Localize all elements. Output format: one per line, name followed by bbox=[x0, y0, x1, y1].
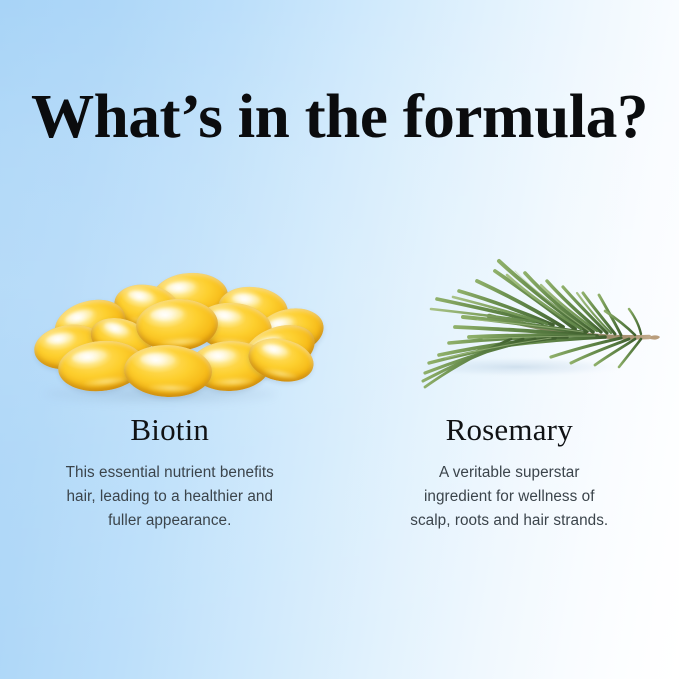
rosemary-sprig-icon bbox=[349, 239, 669, 399]
ingredient-columns: Biotin This essential nutrient benefits … bbox=[0, 235, 679, 548]
ingredient-name-biotin: Biotin bbox=[130, 414, 209, 445]
page-title: What’s in the formula? bbox=[0, 86, 679, 148]
ingredient-name-rosemary: Rosemary bbox=[446, 414, 573, 445]
ingredient-description-biotin: This essential nutrient benefits hair, l… bbox=[64, 461, 276, 533]
ingredients-poster: What’s in the formula? bbox=[0, 0, 679, 679]
rosemary-image bbox=[349, 235, 669, 400]
capsule-pile-icon bbox=[18, 275, 318, 395]
ingredient-card-rosemary: Rosemary A veritable superstar ingredien… bbox=[340, 235, 679, 548]
biotin-image bbox=[10, 235, 330, 400]
ingredient-card-biotin: Biotin This essential nutrient benefits … bbox=[0, 235, 340, 548]
ingredient-description-rosemary: A veritable superstar ingredient for wel… bbox=[403, 461, 615, 533]
